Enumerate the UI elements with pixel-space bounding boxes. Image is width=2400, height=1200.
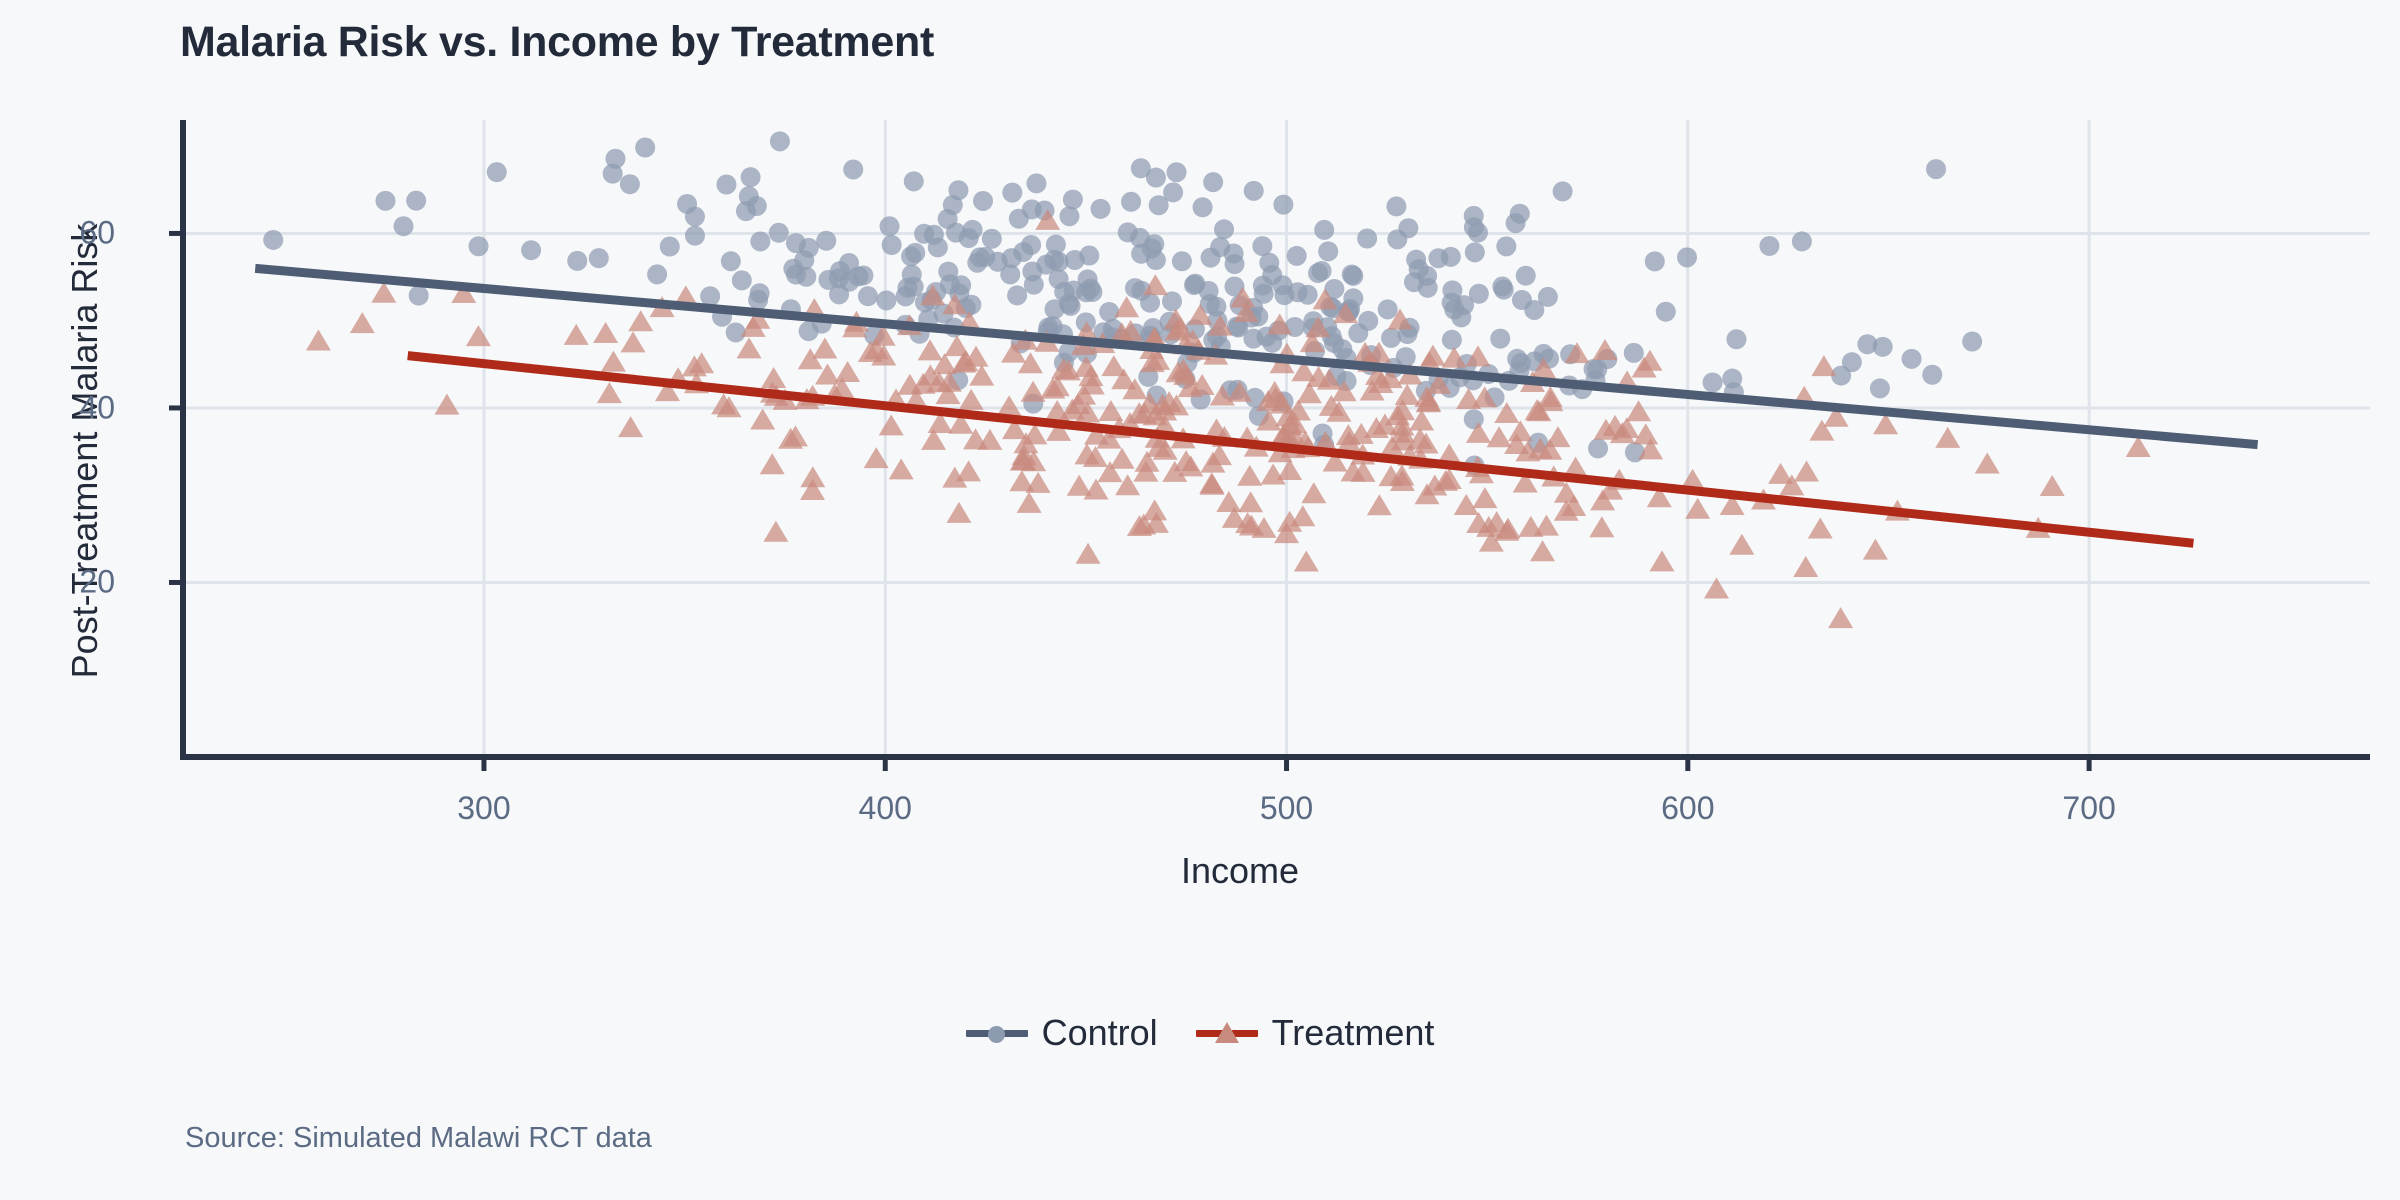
treatment-marker-icon xyxy=(1196,1016,1258,1050)
x-tick-label: 700 xyxy=(2062,790,2115,827)
legend-label-treatment: Treatment xyxy=(1272,1012,1435,1054)
x-tick-label: 300 xyxy=(457,790,510,827)
chart-figure: Malaria Risk vs. Income by Treatment Pos… xyxy=(0,0,2400,1200)
x-tick-label: 600 xyxy=(1661,790,1714,827)
y-tick-label: 40 xyxy=(79,389,115,426)
y-tick-label: 20 xyxy=(79,564,115,601)
y-tick-label: 60 xyxy=(79,215,115,252)
control-marker-icon xyxy=(966,1016,1028,1050)
source-note: Source: Simulated Malawi RCT data xyxy=(185,1122,652,1155)
x-tick-label: 500 xyxy=(1260,790,1313,827)
x-axis-title-text: Income xyxy=(1181,850,1299,891)
chart-legend: Control Treatment xyxy=(0,1012,2400,1054)
legend-item-control[interactable]: Control xyxy=(966,1012,1158,1054)
legend-label-control: Control xyxy=(1042,1012,1158,1054)
legend-item-treatment[interactable]: Treatment xyxy=(1196,1012,1435,1054)
x-tick-label: 400 xyxy=(859,790,912,827)
x-axis-title: Income xyxy=(0,850,2400,892)
